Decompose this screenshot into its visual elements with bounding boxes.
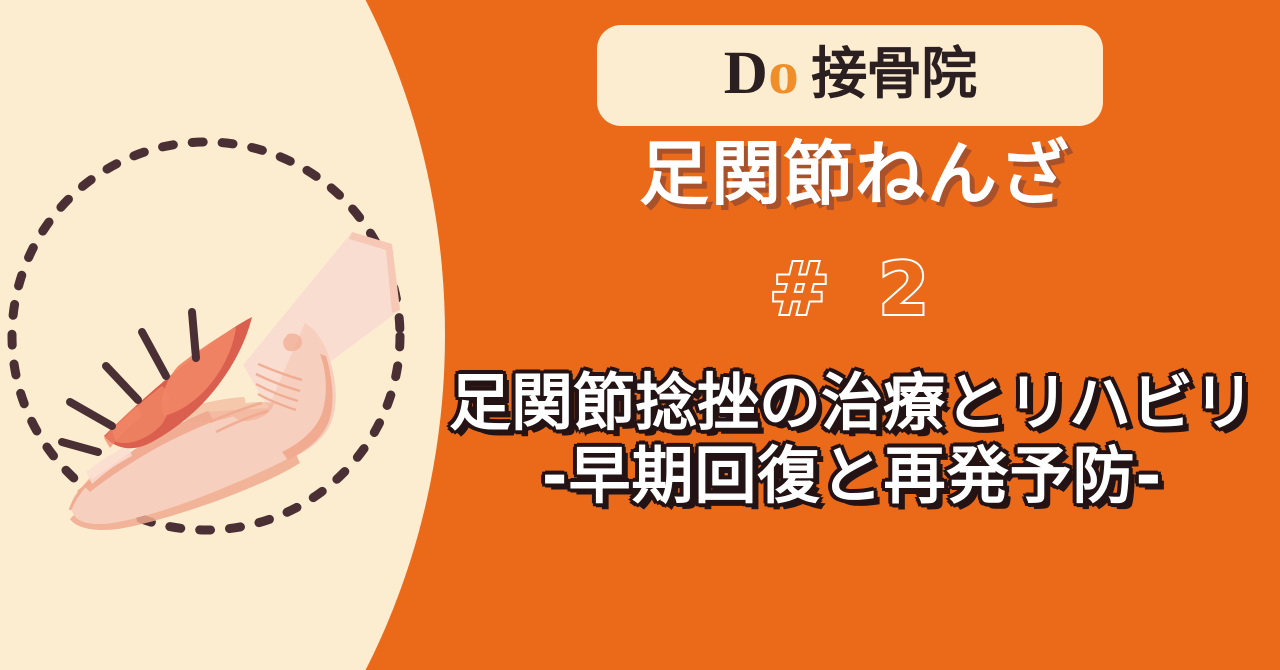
text-column: Do接骨院 足関節ねんざ # 2 足関節捻挫の治療とリハビリ -早期回復と再発予… (430, 0, 1280, 670)
slide-canvas: Do接骨院 足関節ねんざ # 2 足関節捻挫の治療とリハビリ -早期回復と再発予… (0, 0, 1280, 670)
page-title: 足関節捻挫の治療とリハビリ -早期回復と再発予防- (412, 370, 1280, 510)
headline-text: 足関節ねんざ (430, 139, 1280, 209)
logo-japanese-name: 接骨院 (811, 42, 976, 107)
clinic-logo-badge: Do接骨院 (597, 25, 1103, 126)
pain-line-2 (142, 332, 166, 376)
sprained-ankle-illustration (0, 120, 420, 550)
issue-number-badge: # 2 (430, 253, 1280, 325)
page-title-line2: -早期回復と再発予防- (412, 443, 1280, 510)
logo-letter-o: o (768, 40, 799, 107)
logo-letter-d: D (724, 40, 769, 107)
pain-line-5 (62, 442, 98, 452)
pain-line-4 (70, 402, 112, 426)
pain-line-3 (106, 366, 138, 400)
clinic-logo-text: Do接骨院 (724, 43, 977, 104)
page-title-line1: 足関節捻挫の治療とリハビリ (449, 366, 1255, 439)
pain-line-1 (192, 312, 196, 358)
